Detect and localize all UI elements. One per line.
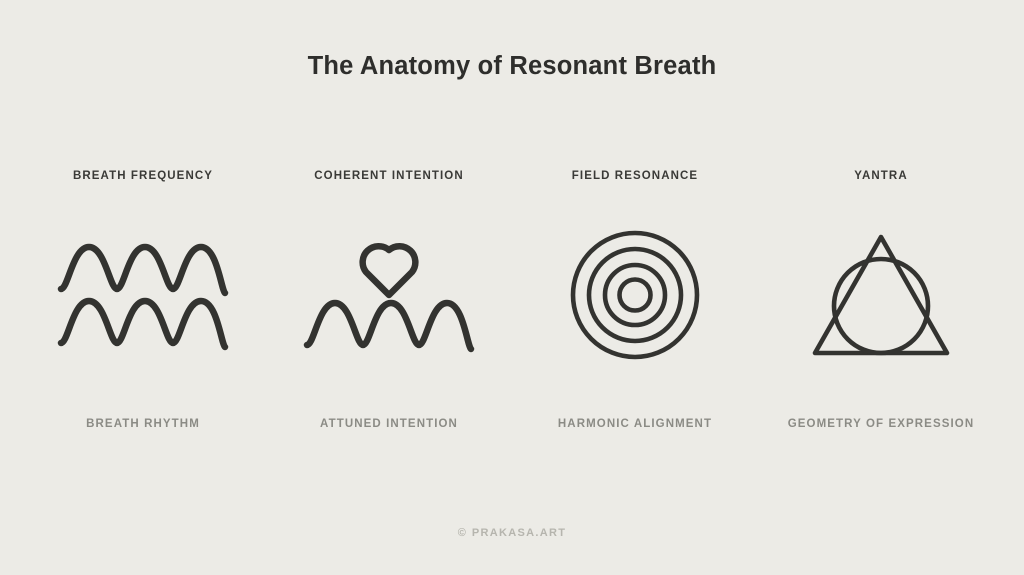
heart-over-wave-icon (299, 220, 479, 370)
wave-icon (307, 303, 471, 349)
column-header-field-resonance: FIELD RESONANCE (572, 168, 698, 184)
copyright-icon: © (458, 527, 467, 539)
column-header-breath-frequency: BREATH FREQUENCY (73, 168, 213, 184)
column-caption-attuned-intention: ATTUNED INTENTION (320, 418, 458, 430)
column-yantra: YANTRA GEOMETRY OF EXPRESSION (758, 168, 1004, 430)
concept-columns: BREATH FREQUENCY BREATH RHYTHM COHERENT … (20, 168, 1004, 430)
concentric-circles-icon (545, 220, 725, 370)
footer: © PRAKASA.ART (0, 527, 1024, 539)
double-wave-icon (53, 220, 233, 370)
column-caption-geometry-of-expression: GEOMETRY OF EXPRESSION (788, 418, 975, 430)
circle-shape (834, 259, 928, 353)
page-title: The Anatomy of Resonant Breath (0, 52, 1024, 81)
triangle-circle-icon (791, 220, 971, 370)
column-caption-breath-rhythm: BREATH RHYTHM (86, 418, 200, 430)
poster-canvas: The Anatomy of Resonant Breath BREATH FR… (0, 0, 1024, 575)
column-coherent-intention: COHERENT INTENTION ATTUNED INTENTION (266, 168, 512, 430)
column-breath-frequency: BREATH FREQUENCY BREATH RHYTHM (20, 168, 266, 430)
column-field-resonance: FIELD RESONANCE HARMONIC ALIGNMENT (512, 168, 758, 430)
column-header-coherent-intention: COHERENT INTENTION (314, 168, 464, 184)
column-header-yantra: YANTRA (854, 168, 907, 184)
column-caption-harmonic-alignment: HARMONIC ALIGNMENT (558, 418, 712, 430)
footer-brand: PRAKASA.ART (472, 527, 566, 539)
heart-icon (363, 246, 416, 295)
